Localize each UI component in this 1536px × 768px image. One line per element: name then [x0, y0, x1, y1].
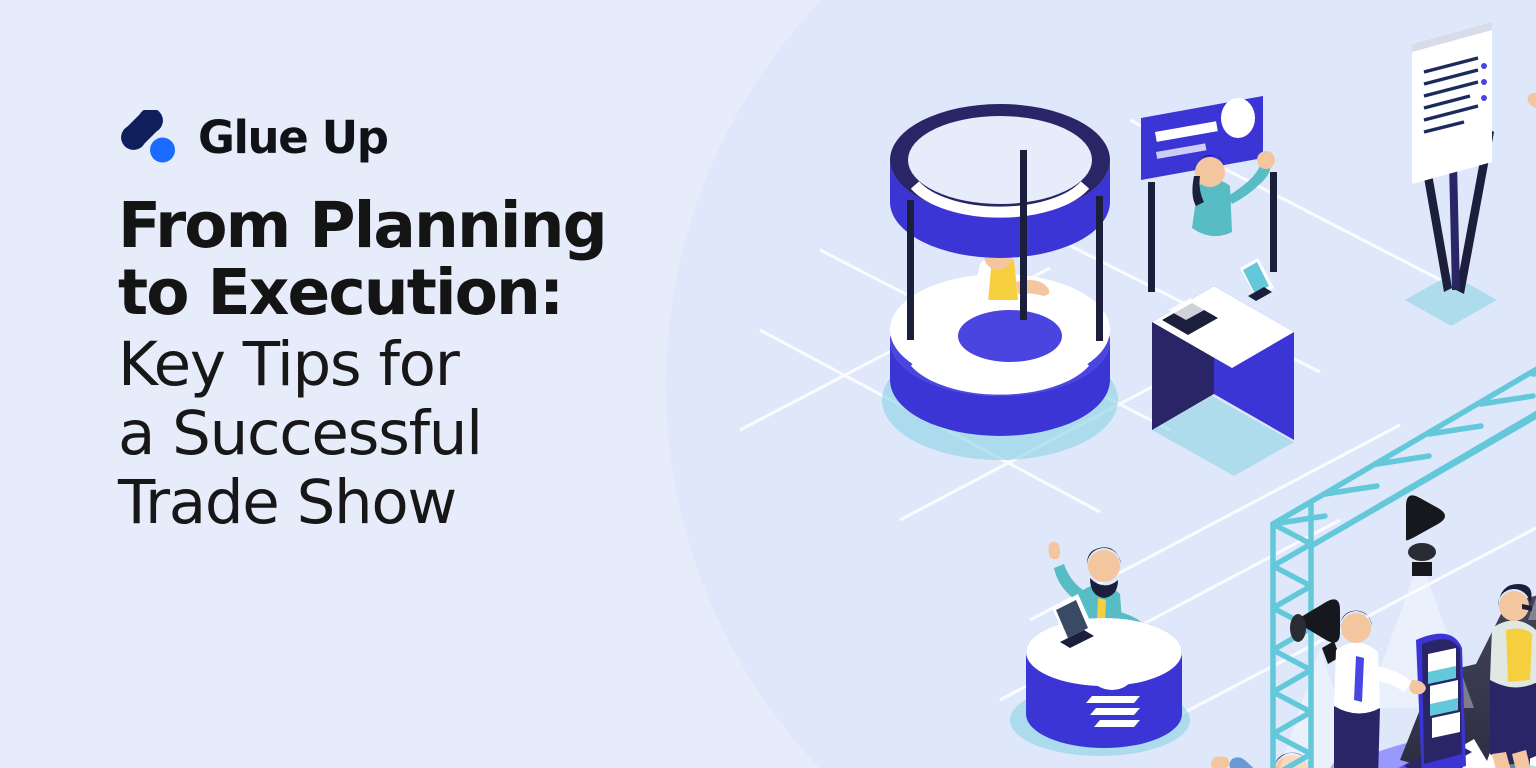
headline-light-line-3: Trade Show	[118, 469, 698, 538]
headline-light-line-1: Key Tips for	[118, 331, 698, 400]
headline-light-line-2: a Successful	[118, 400, 698, 469]
reception-desk-stand	[1141, 96, 1294, 476]
brand-logo[interactable]: Glue Up	[118, 106, 698, 168]
banner-root: Glue Up From Planning to Execution: Key …	[0, 0, 1536, 768]
brand-wordmark: Glue Up	[198, 115, 388, 160]
headline-light: Key Tips for a Successful Trade Show	[118, 331, 698, 538]
text-column: Glue Up From Planning to Execution: Key …	[118, 106, 698, 538]
reception-attendant	[1192, 151, 1275, 236]
headline-strong-line-2: to Execution:	[118, 259, 698, 326]
spotlight	[1406, 495, 1445, 576]
round-info-kiosk	[882, 104, 1118, 460]
podium-counter	[1010, 542, 1190, 756]
headline-strong: From Planning to Execution:	[118, 192, 698, 327]
glueup-logo-icon	[118, 110, 180, 164]
headline-block: From Planning to Execution: Key Tips for…	[118, 192, 698, 538]
headline-strong-line-1: From Planning	[118, 192, 698, 259]
flipchart-presenter	[1405, 22, 1536, 326]
presenter-woman	[1527, 93, 1536, 314]
isometric-trade-show-illustration	[700, 0, 1536, 768]
